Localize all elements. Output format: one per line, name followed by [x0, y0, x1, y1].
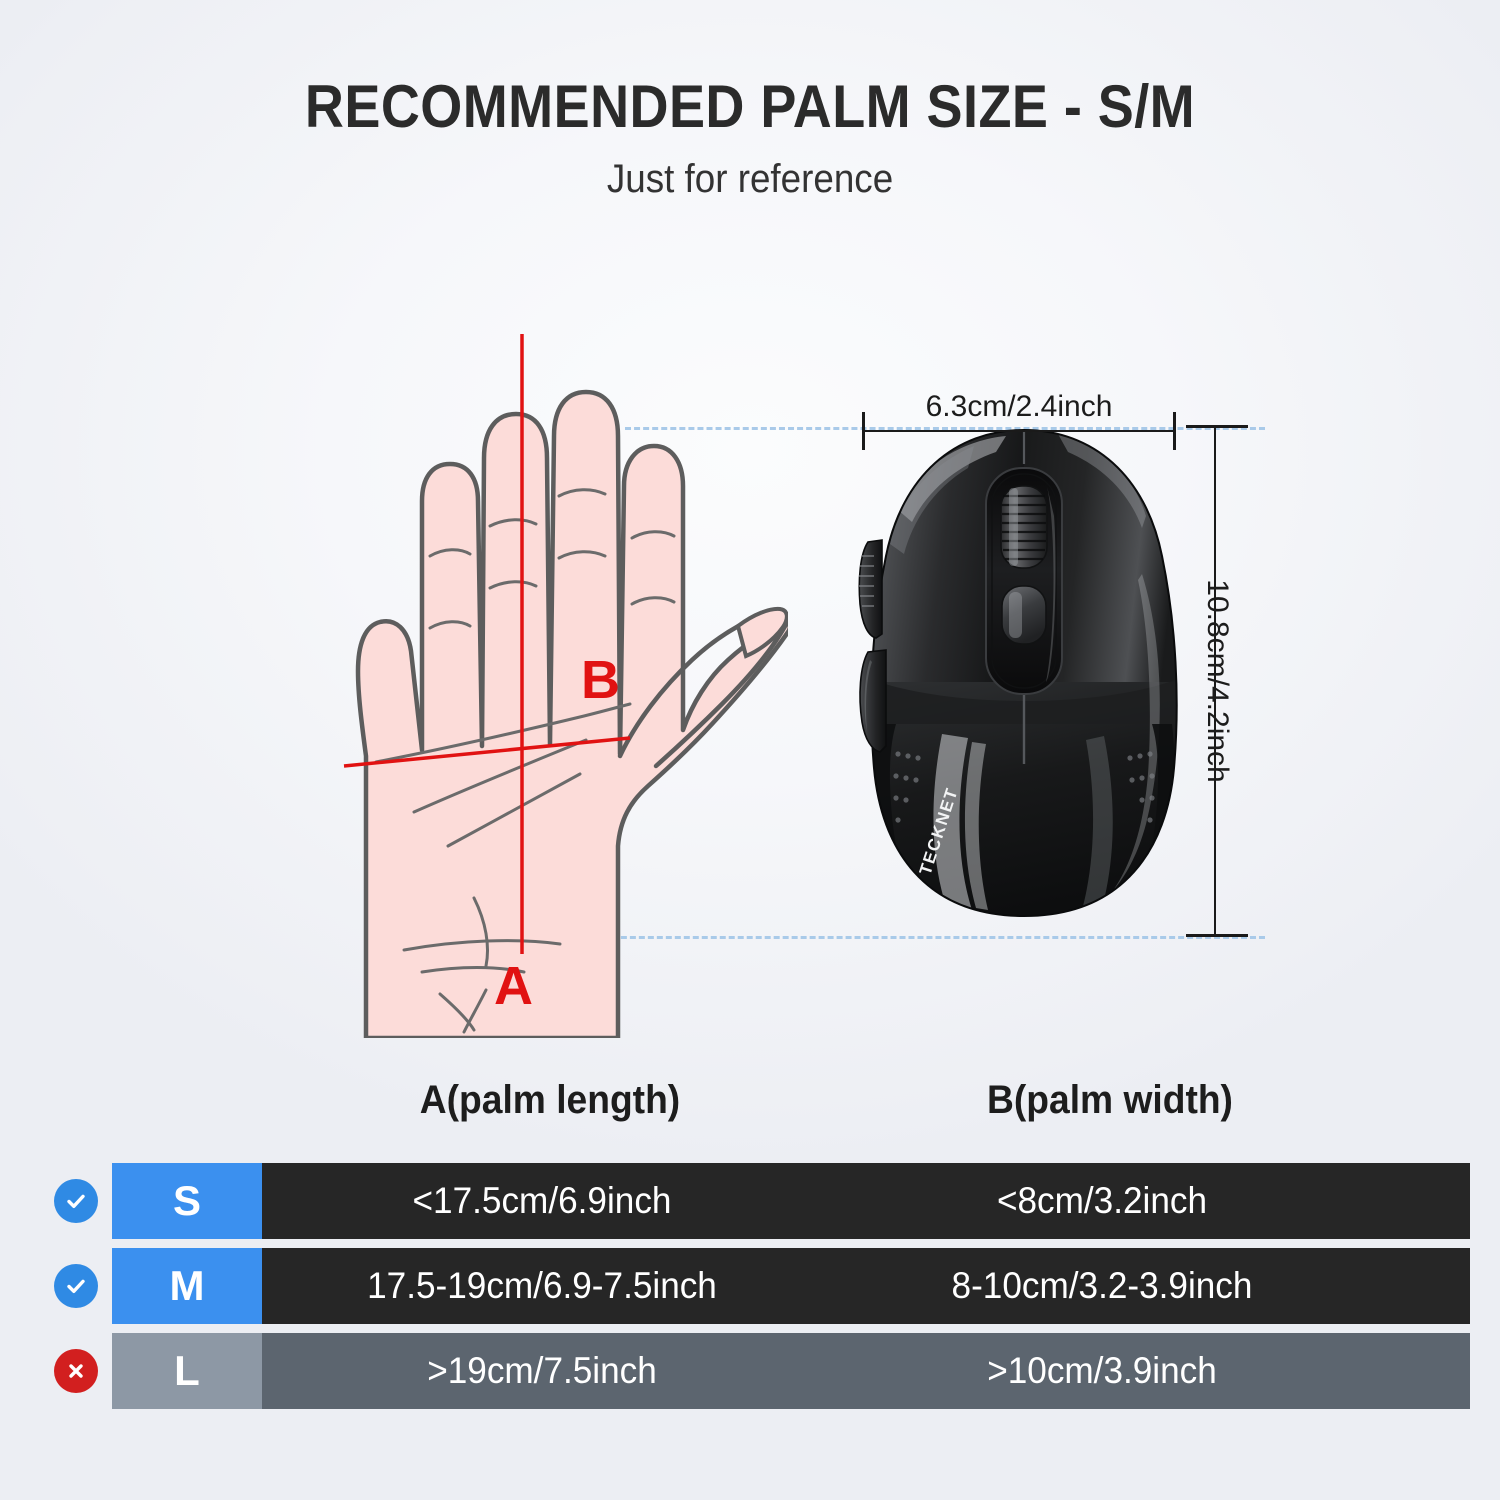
width-dimension-label: 6.3cm/2.4inch — [862, 390, 1176, 424]
row-values: 17.5-19cm/6.9-7.5inch 8-10cm/3.2-3.9inch — [262, 1248, 1470, 1324]
palm-length-value: 17.5-19cm/6.9-7.5inch — [276, 1265, 808, 1307]
table-row: M 17.5-19cm/6.9-7.5inch 8-10cm/3.2-3.9in… — [40, 1248, 1470, 1324]
check-circle-icon — [54, 1264, 98, 1308]
palm-size-table: S <17.5cm/6.9inch <8cm/3.2inch M 17.5-19… — [40, 1163, 1470, 1409]
status-badge-cell — [40, 1248, 112, 1324]
page-subtitle: Just for reference — [60, 157, 1440, 202]
height-tick-top — [1186, 425, 1248, 428]
column-header-palm-length: A(palm length) — [290, 1078, 811, 1138]
hand-diagram: B A — [318, 326, 788, 1038]
mouse-product-image: TECKNET — [846, 424, 1202, 940]
mouse-dpi-button — [1002, 586, 1046, 644]
palm-width-label: B — [581, 650, 620, 710]
check-circle-icon — [54, 1179, 98, 1223]
status-badge-cell — [40, 1163, 112, 1239]
status-badge-cell — [40, 1333, 112, 1409]
width-dimension-bar — [862, 430, 1176, 432]
table-row: S <17.5cm/6.9inch <8cm/3.2inch — [40, 1163, 1470, 1239]
palm-width-value: >10cm/3.9inch — [836, 1350, 1368, 1392]
infographic-page: RECOMMENDED PALM SIZE - S/M Just for ref… — [0, 0, 1500, 1500]
palm-length-value: >19cm/7.5inch — [276, 1350, 808, 1392]
table-column-headers: A(palm length) B(palm width) — [270, 1078, 1470, 1138]
mouse-height-dimension: 10.8cm/4.2inch — [1186, 425, 1248, 937]
height-dimension-label: 10.8cm/4.2inch — [1200, 579, 1234, 782]
size-label: M — [112, 1248, 262, 1324]
x-circle-icon — [54, 1349, 98, 1393]
size-label: L — [112, 1333, 262, 1409]
mouse-width-dimension: 6.3cm/2.4inch — [862, 396, 1176, 442]
row-values: <17.5cm/6.9inch <8cm/3.2inch — [262, 1163, 1470, 1239]
palm-length-label: A — [494, 956, 533, 1016]
column-header-palm-width: B(palm width) — [850, 1078, 1371, 1138]
size-label: S — [112, 1163, 262, 1239]
page-title: RECOMMENDED PALM SIZE - S/M — [75, 72, 1425, 141]
table-row: L >19cm/7.5inch >10cm/3.9inch — [40, 1333, 1470, 1409]
row-values: >19cm/7.5inch >10cm/3.9inch — [262, 1333, 1470, 1409]
palm-width-value: 8-10cm/3.2-3.9inch — [836, 1265, 1368, 1307]
mouse-scroll-wheel — [1001, 486, 1047, 568]
height-tick-bottom — [1186, 934, 1248, 937]
palm-length-value: <17.5cm/6.9inch — [276, 1180, 808, 1222]
header: RECOMMENDED PALM SIZE - S/M Just for ref… — [0, 72, 1500, 202]
palm-width-value: <8cm/3.2inch — [836, 1180, 1368, 1222]
